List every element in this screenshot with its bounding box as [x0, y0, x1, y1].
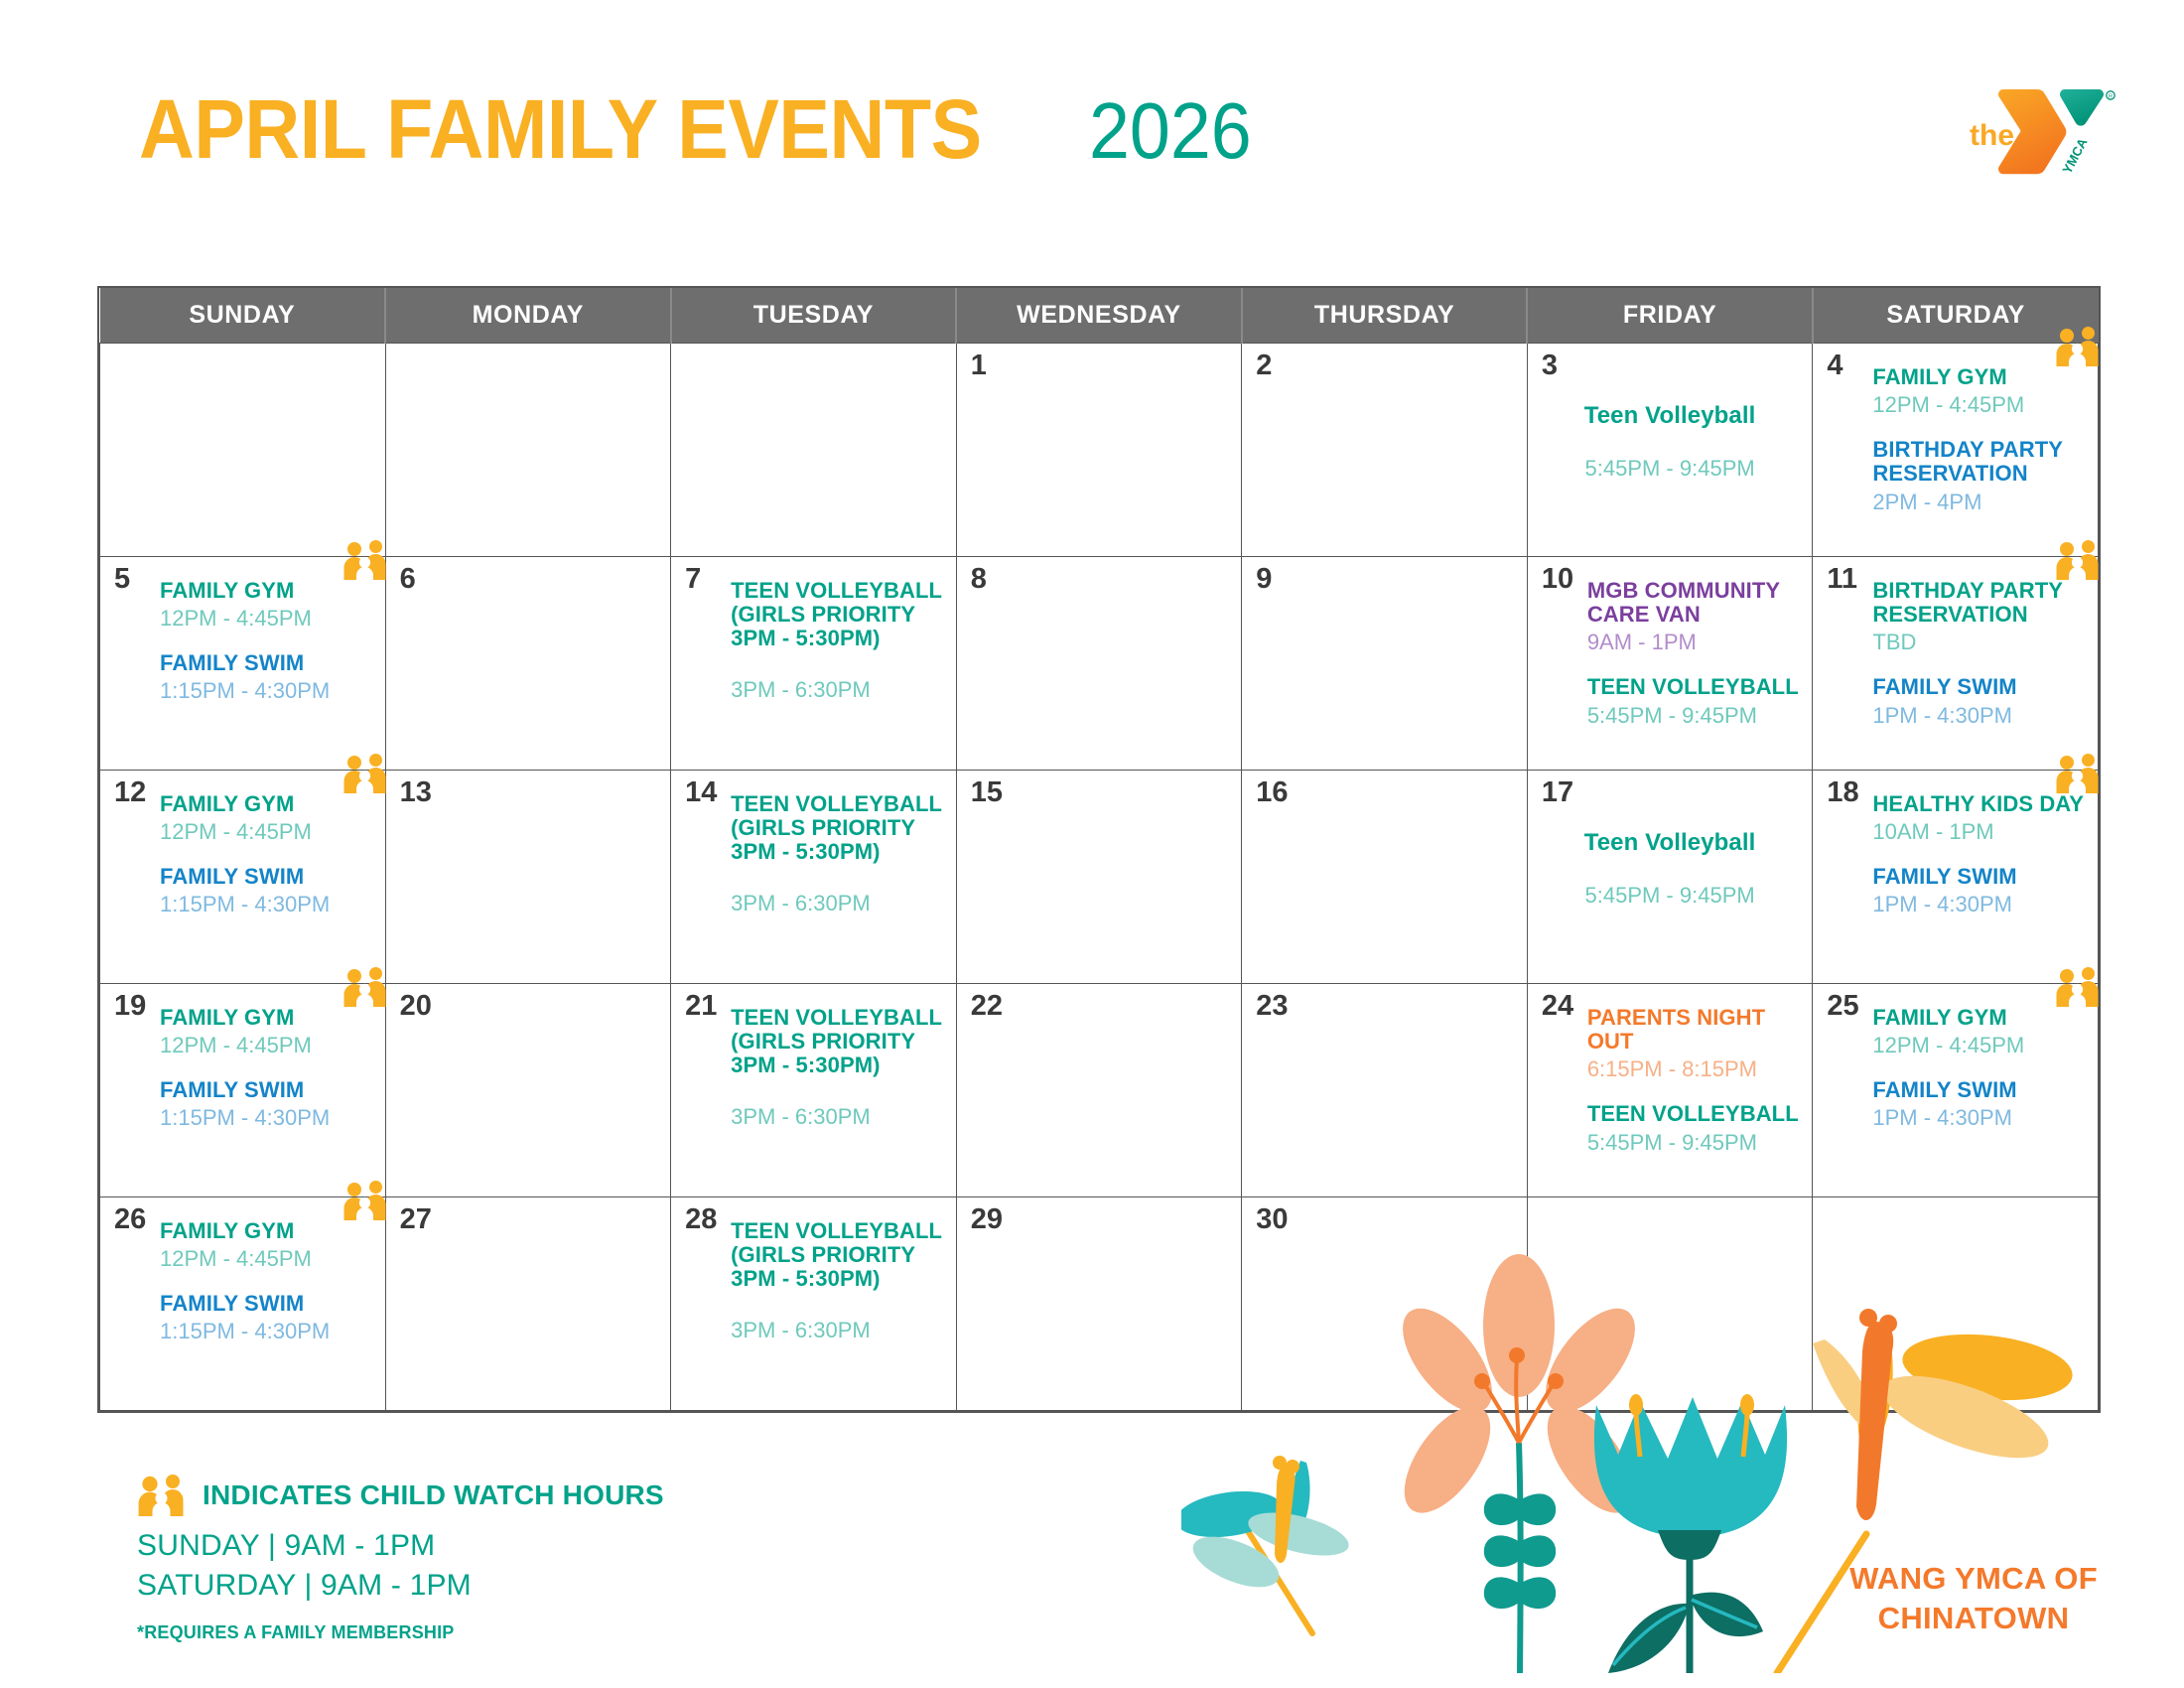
calendar-event[interactable]: TEEN VOLLEYBALL5:45PM - 9:45PM: [1587, 1102, 1801, 1156]
calendar-event[interactable]: Teen Volleyball5:45PM - 9:45PM: [1528, 403, 1813, 483]
title-month-text: APRIL FAMILY EVENTS: [139, 87, 982, 171]
calendar-event[interactable]: PARENTS NIGHT OUT6:15PM - 8:15PM: [1587, 1006, 1801, 1083]
branch-name: WANG YMCA OF CHINATOWN: [1825, 1559, 2122, 1637]
child-watch-icon: [2055, 327, 2101, 366]
calendar-event[interactable]: FAMILY SWIM1:15PM - 4:30PM: [160, 1078, 373, 1132]
day-events: TEEN VOLLEYBALL (GIRLS PRIORITY 3PM - 5:…: [731, 1006, 944, 1131]
event-title: FAMILY GYM: [160, 1006, 373, 1030]
calendar-day-cell[interactable]: 20: [385, 983, 671, 1196]
event-title: Teen Volleyball: [1528, 403, 1813, 429]
event-title: BIRTHDAY PARTY RESERVATION: [1872, 438, 2086, 486]
calendar-day-cell[interactable]: 16: [1242, 770, 1528, 983]
calendar-week-row: 19FAMILY GYM12PM - 4:45PMFAMILY SWIM1:15…: [100, 983, 2099, 1196]
calendar-event[interactable]: FAMILY SWIM1PM - 4:30PM: [1872, 1078, 2086, 1132]
day-number: 27: [400, 1205, 432, 1234]
calendar-day-cell[interactable]: 8: [956, 556, 1242, 770]
branch-name-line2: CHINATOWN: [1825, 1599, 2122, 1638]
event-time: 12PM - 4:45PM: [160, 1245, 373, 1273]
calendar-week-row: 26FAMILY GYM12PM - 4:45PMFAMILY SWIM1:15…: [100, 1196, 2099, 1410]
calendar-event[interactable]: FAMILY SWIM1PM - 4:30PM: [1872, 675, 2086, 729]
event-time: 9AM - 1PM: [1587, 629, 1801, 656]
calendar-day-cell[interactable]: 29: [956, 1196, 1242, 1410]
event-title: Teen Volleyball: [1528, 830, 1813, 856]
calendar-day-cell[interactable]: 19FAMILY GYM12PM - 4:45PMFAMILY SWIM1:15…: [100, 983, 386, 1196]
day-events: FAMILY GYM12PM - 4:45PMFAMILY SWIM1:15PM…: [160, 1006, 373, 1132]
calendar-week-row: 12FAMILY GYM12PM - 4:45PMFAMILY SWIM1:15…: [100, 770, 2099, 983]
event-title: FAMILY SWIM: [1872, 865, 2086, 889]
event-title: FAMILY GYM: [160, 1219, 373, 1243]
calendar-event[interactable]: FAMILY GYM12PM - 4:45PM: [160, 579, 373, 633]
calendar-day-cell[interactable]: 14TEEN VOLLEYBALL (GIRLS PRIORITY 3PM - …: [671, 770, 957, 983]
child-watch-icon: [137, 1475, 187, 1516]
day-number: 1: [971, 352, 987, 380]
calendar-day-cell[interactable]: 12FAMILY GYM12PM - 4:45PMFAMILY SWIM1:15…: [100, 770, 386, 983]
calendar-day-cell[interactable]: 1: [956, 343, 1242, 556]
child-watch-icon: [342, 967, 388, 1007]
weekday-header-tuesday: TUESDAY: [671, 288, 957, 343]
calendar-empty-cell: [671, 343, 957, 556]
day-number: 13: [400, 778, 432, 807]
legend-heading-row: INDICATES CHILD WATCH HOURS: [137, 1475, 931, 1516]
day-events: FAMILY GYM12PM - 4:45PMFAMILY SWIM1:15PM…: [160, 1219, 373, 1345]
day-events: TEEN VOLLEYBALL (GIRLS PRIORITY 3PM - 5:…: [731, 1219, 944, 1344]
calendar-event[interactable]: Teen Volleyball5:45PM - 9:45PM: [1528, 830, 1813, 910]
day-number: 24: [1542, 992, 1573, 1021]
event-title: TEEN VOLLEYBALL (GIRLS PRIORITY 3PM - 5:…: [731, 792, 944, 865]
legend-heading-text: INDICATES CHILD WATCH HOURS: [203, 1479, 664, 1511]
event-title: FAMILY SWIM: [160, 1292, 373, 1316]
day-number: 21: [685, 992, 717, 1021]
day-number: 3: [1542, 352, 1558, 380]
event-time: 5:45PM - 9:45PM: [1587, 702, 1801, 730]
day-number: 7: [685, 565, 701, 594]
event-time: 3PM - 6:30PM: [731, 676, 944, 704]
calendar-day-cell[interactable]: 18HEALTHY KIDS DAY10AM - 1PMFAMILY SWIM1…: [1813, 770, 2099, 983]
calendar-event[interactable]: FAMILY SWIM1PM - 4:30PM: [1872, 865, 2086, 918]
calendar-day-cell[interactable]: 25FAMILY GYM12PM - 4:45PMFAMILY SWIM1PM …: [1813, 983, 2099, 1196]
child-watch-icon: [342, 1181, 388, 1220]
day-events: Teen Volleyball5:45PM - 9:45PM: [1528, 403, 1813, 483]
event-title: FAMILY SWIM: [160, 1078, 373, 1102]
event-time: 12PM - 4:45PM: [160, 818, 373, 846]
calendar-day-cell[interactable]: 17Teen Volleyball5:45PM - 9:45PM: [1527, 770, 1813, 983]
branch-name-line1: WANG YMCA OF: [1825, 1559, 2122, 1599]
day-number: 20: [400, 992, 432, 1021]
calendar-event[interactable]: BIRTHDAY PARTY RESERVATION2PM - 4PM: [1872, 438, 2086, 515]
svg-text:R: R: [2109, 94, 2113, 100]
calendar-day-cell[interactable]: 13: [385, 770, 671, 983]
event-time: 1:15PM - 4:30PM: [160, 1318, 373, 1345]
event-time: 5:45PM - 9:45PM: [1528, 455, 1813, 483]
day-number: 30: [1256, 1205, 1288, 1234]
day-events: Teen Volleyball5:45PM - 9:45PM: [1528, 830, 1813, 910]
calendar-empty-cell: [385, 343, 671, 556]
day-number: 29: [971, 1205, 1003, 1234]
day-number: 17: [1542, 778, 1573, 807]
legend: INDICATES CHILD WATCH HOURS SUNDAY | 9AM…: [137, 1475, 931, 1643]
event-title: TEEN VOLLEYBALL: [1587, 1102, 1801, 1126]
calendar-day-cell[interactable]: 28TEEN VOLLEYBALL (GIRLS PRIORITY 3PM - …: [671, 1196, 957, 1410]
event-time: 1PM - 4:30PM: [1872, 1104, 2086, 1132]
event-time: 5:45PM - 9:45PM: [1587, 1129, 1801, 1157]
calendar-day-cell[interactable]: 7TEEN VOLLEYBALL (GIRLS PRIORITY 3PM - 5…: [671, 556, 957, 770]
day-events: MGB COMMUNITY CARE VAN9AM - 1PMTEEN VOLL…: [1587, 579, 1801, 730]
day-number: 2: [1256, 352, 1272, 380]
day-events: FAMILY GYM12PM - 4:45PMBIRTHDAY PARTY RE…: [1872, 365, 2086, 516]
event-title: FAMILY GYM: [160, 579, 373, 603]
weekday-header-thursday: THURSDAY: [1242, 288, 1528, 343]
day-number: 22: [971, 992, 1003, 1021]
calendar-day-cell[interactable]: 11BIRTHDAY PARTY RESERVATIONTBDFAMILY SW…: [1813, 556, 2099, 770]
calendar-event[interactable]: FAMILY GYM12PM - 4:45PM: [160, 792, 373, 846]
calendar-day-cell[interactable]: 23: [1242, 983, 1528, 1196]
event-time: 3PM - 6:30PM: [731, 890, 944, 917]
day-number: 26: [114, 1205, 146, 1234]
event-time: 2PM - 4PM: [1872, 489, 2086, 516]
calendar-empty-cell: [1527, 1196, 1813, 1410]
event-time: TBD: [1872, 629, 2086, 656]
event-title: TEEN VOLLEYBALL (GIRLS PRIORITY 3PM - 5:…: [731, 579, 944, 651]
day-number: 16: [1256, 778, 1288, 807]
event-title: FAMILY GYM: [1872, 365, 2086, 389]
calendar-grid: SUNDAY MONDAY TUESDAY WEDNESDAY THURSDAY…: [97, 286, 2101, 1413]
day-number: 25: [1827, 992, 1858, 1021]
calendar-event[interactable]: TEEN VOLLEYBALL (GIRLS PRIORITY 3PM - 5:…: [731, 792, 944, 917]
event-title: FAMILY GYM: [160, 792, 373, 816]
event-title: FAMILY SWIM: [160, 865, 373, 889]
event-title: HEALTHY KIDS DAY: [1872, 792, 2086, 816]
weekday-header-monday: MONDAY: [385, 288, 671, 343]
event-time: 10AM - 1PM: [1872, 818, 2086, 846]
event-time: 3PM - 6:30PM: [731, 1103, 944, 1131]
calendar-event[interactable]: TEEN VOLLEYBALL (GIRLS PRIORITY 3PM - 5:…: [731, 1219, 944, 1344]
calendar-week-row: 5FAMILY GYM12PM - 4:45PMFAMILY SWIM1:15P…: [100, 556, 2099, 770]
calendar-event[interactable]: FAMILY GYM12PM - 4:45PM: [1872, 1006, 2086, 1059]
day-events: FAMILY GYM12PM - 4:45PMFAMILY SWIM1PM - …: [1872, 1006, 2086, 1132]
event-time: 3PM - 6:30PM: [731, 1317, 944, 1344]
event-title: TEEN VOLLEYBALL (GIRLS PRIORITY 3PM - 5:…: [731, 1219, 944, 1292]
event-time: 1:15PM - 4:30PM: [160, 1104, 373, 1132]
day-number: 6: [400, 565, 416, 594]
day-number: 5: [114, 565, 130, 594]
event-title: BIRTHDAY PARTY RESERVATION: [1872, 579, 2086, 627]
day-events: PARENTS NIGHT OUT6:15PM - 8:15PMTEEN VOL…: [1587, 1006, 1801, 1157]
page-header: APRIL FAMILY EVENTS 2026: [0, 0, 2184, 263]
calendar-event[interactable]: HEALTHY KIDS DAY10AM - 1PM: [1872, 792, 2086, 846]
day-number: 23: [1256, 992, 1288, 1021]
day-number: 9: [1256, 565, 1272, 594]
day-events: FAMILY GYM12PM - 4:45PMFAMILY SWIM1:15PM…: [160, 579, 373, 705]
event-time: 1:15PM - 4:30PM: [160, 891, 373, 918]
calendar-day-cell[interactable]: 2: [1242, 343, 1528, 556]
day-number: 8: [971, 565, 987, 594]
calendar-day-cell[interactable]: 22: [956, 983, 1242, 1196]
calendar-event[interactable]: BIRTHDAY PARTY RESERVATIONTBD: [1872, 579, 2086, 656]
event-time: 5:45PM - 9:45PM: [1528, 882, 1813, 910]
weekday-header-sunday: SUNDAY: [100, 288, 386, 343]
calendar-day-cell[interactable]: 9: [1242, 556, 1528, 770]
event-title: PARENTS NIGHT OUT: [1587, 1006, 1801, 1054]
calendar-day-cell[interactable]: 6: [385, 556, 671, 770]
legend-membership-note: *REQUIRES A FAMILY MEMBERSHIP: [137, 1622, 931, 1643]
calendar-event[interactable]: FAMILY GYM12PM - 4:45PM: [160, 1006, 373, 1059]
event-title: FAMILY SWIM: [1872, 1078, 2086, 1102]
event-time: 1PM - 4:30PM: [1872, 702, 2086, 730]
child-watch-icon: [2055, 967, 2101, 1007]
calendar-day-cell[interactable]: 21TEEN VOLLEYBALL (GIRLS PRIORITY 3PM - …: [671, 983, 957, 1196]
calendar-day-cell[interactable]: 24PARENTS NIGHT OUT6:15PM - 8:15PMTEEN V…: [1527, 983, 1813, 1196]
weekday-header-friday: FRIDAY: [1527, 288, 1813, 343]
calendar-day-cell[interactable]: 3Teen Volleyball5:45PM - 9:45PM: [1527, 343, 1813, 556]
day-events: TEEN VOLLEYBALL (GIRLS PRIORITY 3PM - 5:…: [731, 579, 944, 704]
calendar-day-cell[interactable]: 4FAMILY GYM12PM - 4:45PMBIRTHDAY PARTY R…: [1813, 343, 2099, 556]
child-watch-icon: [342, 540, 388, 580]
calendar-event[interactable]: FAMILY SWIM1:15PM - 4:30PM: [160, 865, 373, 918]
day-number: 15: [971, 778, 1003, 807]
calendar-page: APRIL FAMILY EVENTS 2026: [0, 0, 2184, 1688]
calendar-empty-cell: [1813, 1196, 2099, 1410]
day-number: 10: [1542, 565, 1573, 594]
ymca-wordmark: YMCA: [2059, 135, 2091, 176]
event-time: 1:15PM - 4:30PM: [160, 677, 373, 705]
calendar-event[interactable]: FAMILY GYM12PM - 4:45PM: [160, 1219, 373, 1273]
day-number: 14: [685, 778, 717, 807]
child-watch-icon: [342, 754, 388, 793]
event-time: 12PM - 4:45PM: [160, 1032, 373, 1059]
event-title: TEEN VOLLEYBALL: [1587, 675, 1801, 699]
day-number: 28: [685, 1205, 717, 1234]
child-watch-icon: [2055, 540, 2101, 580]
day-number: 11: [1827, 565, 1857, 594]
event-time: 12PM - 4:45PM: [1872, 1032, 2086, 1059]
calendar-event[interactable]: TEEN VOLLEYBALL (GIRLS PRIORITY 3PM - 5:…: [731, 1006, 944, 1131]
event-time: 6:15PM - 8:15PM: [1587, 1055, 1801, 1083]
calendar-day-cell[interactable]: 10MGB COMMUNITY CARE VAN9AM - 1PMTEEN VO…: [1527, 556, 1813, 770]
day-events: HEALTHY KIDS DAY10AM - 1PMFAMILY SWIM1PM…: [1872, 792, 2086, 918]
child-watch-icon: [2055, 754, 2101, 793]
calendar-day-cell[interactable]: 15: [956, 770, 1242, 983]
day-events: BIRTHDAY PARTY RESERVATIONTBDFAMILY SWIM…: [1872, 579, 2086, 730]
event-title: FAMILY GYM: [1872, 1006, 2086, 1030]
calendar-event[interactable]: FAMILY SWIM1:15PM - 4:30PM: [160, 651, 373, 705]
day-events: FAMILY GYM12PM - 4:45PMFAMILY SWIM1:15PM…: [160, 792, 373, 918]
ymca-the-text: the: [1970, 119, 2014, 152]
weekday-header-row: SUNDAY MONDAY TUESDAY WEDNESDAY THURSDAY…: [100, 288, 2099, 343]
legend-hours-sunday: SUNDAY | 9AM - 1PM: [137, 1526, 931, 1566]
teal-dragonfly-icon: [1181, 1456, 1353, 1633]
calendar-event[interactable]: MGB COMMUNITY CARE VAN9AM - 1PM: [1587, 579, 1801, 656]
calendar-day-cell[interactable]: 27: [385, 1196, 671, 1410]
day-number: 4: [1827, 352, 1843, 380]
day-number: 18: [1827, 778, 1858, 807]
event-time: 12PM - 4:45PM: [1872, 391, 2086, 419]
day-events: TEEN VOLLEYBALL (GIRLS PRIORITY 3PM - 5:…: [731, 792, 944, 917]
teal-tulip-icon: [1594, 1394, 1787, 1673]
day-number: 19: [114, 992, 146, 1021]
event-time: 12PM - 4:45PM: [160, 605, 373, 633]
title-year-text: 2026: [1089, 91, 1252, 171]
calendar-event[interactable]: FAMILY SWIM1:15PM - 4:30PM: [160, 1292, 373, 1345]
event-time: 1PM - 4:30PM: [1872, 891, 2086, 918]
page-title: APRIL FAMILY EVENTS 2026: [139, 87, 1265, 171]
calendar-event[interactable]: FAMILY GYM12PM - 4:45PM: [1872, 365, 2086, 419]
ymca-logo: R the YMCA: [1958, 71, 2128, 205]
calendar-empty-cell: [100, 343, 386, 556]
legend-hours-saturday: SATURDAY | 9AM - 1PM: [137, 1566, 931, 1606]
calendar-day-cell[interactable]: 5FAMILY GYM12PM - 4:45PMFAMILY SWIM1:15P…: [100, 556, 386, 770]
calendar-week-row: 123Teen Volleyball5:45PM - 9:45PM4FAMILY…: [100, 343, 2099, 556]
day-number: 12: [114, 778, 146, 807]
weekday-header-wednesday: WEDNESDAY: [956, 288, 1242, 343]
event-title: MGB COMMUNITY CARE VAN: [1587, 579, 1801, 627]
calendar-event[interactable]: TEEN VOLLEYBALL5:45PM - 9:45PM: [1587, 675, 1801, 729]
calendar-event[interactable]: TEEN VOLLEYBALL (GIRLS PRIORITY 3PM - 5:…: [731, 579, 944, 704]
event-title: FAMILY SWIM: [160, 651, 373, 675]
calendar-day-cell[interactable]: 30: [1242, 1196, 1528, 1410]
event-title: FAMILY SWIM: [1872, 675, 2086, 699]
calendar-day-cell[interactable]: 26FAMILY GYM12PM - 4:45PMFAMILY SWIM1:15…: [100, 1196, 386, 1410]
event-title: TEEN VOLLEYBALL (GIRLS PRIORITY 3PM - 5:…: [731, 1006, 944, 1078]
